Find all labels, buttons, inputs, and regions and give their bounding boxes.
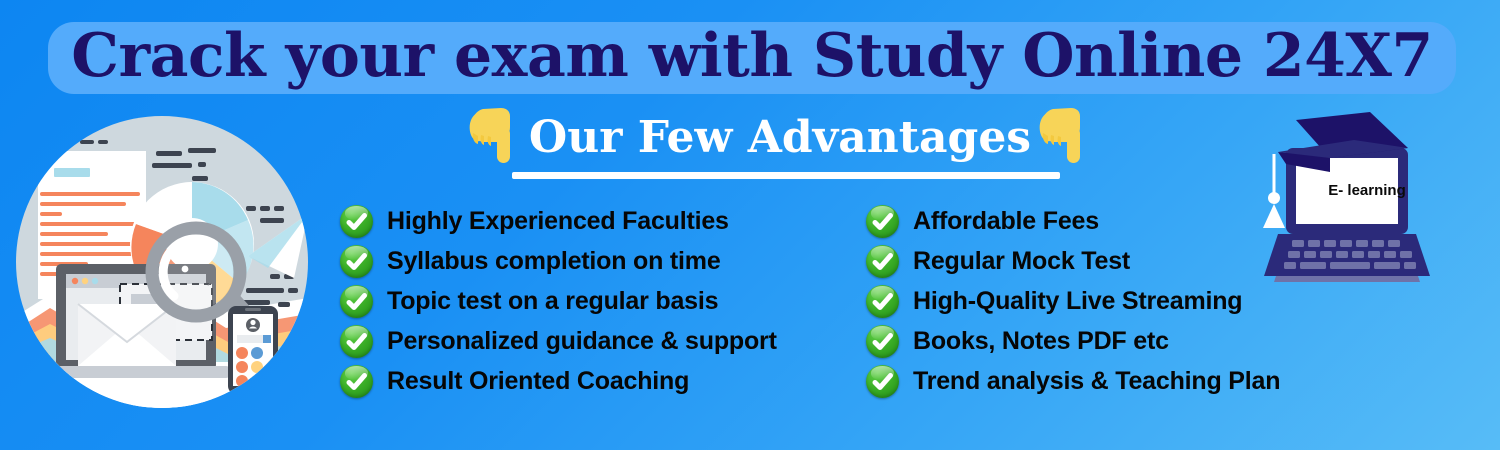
check-circle-icon [340, 245, 373, 278]
advantage-label: Result Oriented Coaching [387, 367, 689, 396]
list-item: Books, Notes PDF etc [866, 321, 1386, 361]
backhand-index-pointing-down-icon-right [1037, 105, 1093, 169]
page-title: Crack your exam with Study Online 24X7 [48, 12, 1456, 100]
list-item: Highly Experienced Faculties [340, 201, 860, 241]
advantage-label: Topic test on a regular basis [387, 287, 718, 316]
advantage-label: Trend analysis & Teaching Plan [913, 367, 1280, 396]
advantage-label: Syllabus completion on time [387, 247, 721, 276]
check-circle-icon [866, 365, 899, 398]
subtitle-underline [512, 172, 1060, 179]
check-circle-icon [866, 285, 899, 318]
advantage-label: Affordable Fees [913, 207, 1099, 236]
list-item: Trend analysis & Teaching Plan [866, 361, 1386, 401]
list-item: Personalized guidance & support [340, 321, 860, 361]
advantage-label: Highly Experienced Faculties [387, 207, 729, 236]
check-circle-icon [866, 205, 899, 238]
promo-banner: Crack your exam with Study Online 24X7 O… [0, 0, 1500, 450]
advantage-label: Books, Notes PDF etc [913, 327, 1169, 356]
check-circle-icon [866, 325, 899, 358]
check-circle-icon [866, 245, 899, 278]
check-circle-icon [340, 285, 373, 318]
subtitle: Our Few Advantages [529, 112, 1031, 163]
study-materials-circle-illustration: × [16, 116, 308, 408]
check-circle-icon [340, 325, 373, 358]
subtitle-row: Our Few Advantages [430, 104, 1130, 170]
advantage-label: High-Quality Live Streaming [913, 287, 1242, 316]
list-item: Syllabus completion on time [340, 241, 860, 281]
list-item: Result Oriented Coaching [340, 361, 860, 401]
laptop-screen-label: E- learning [1312, 182, 1422, 199]
advantage-label: Regular Mock Test [913, 247, 1130, 276]
backhand-index-pointing-down-icon-left [467, 105, 523, 169]
check-circle-icon [340, 205, 373, 238]
check-circle-icon [340, 365, 373, 398]
advantages-left-column: Highly Experienced Faculties Syllabus co… [340, 201, 860, 401]
graduation-cap-laptop-illustration [1258, 110, 1458, 290]
advantage-label: Personalized guidance & support [387, 327, 777, 356]
list-item: Topic test on a regular basis [340, 281, 860, 321]
